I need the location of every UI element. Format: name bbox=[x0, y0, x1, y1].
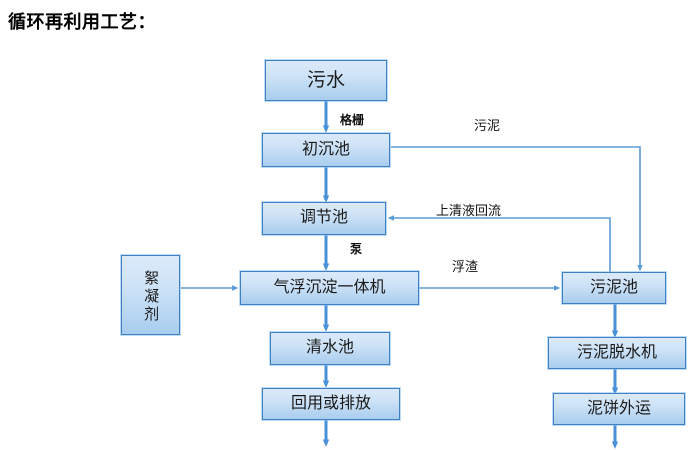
node-sludge-tank-label: 污泥池 bbox=[590, 279, 638, 297]
edge-label-grating-text: 格栅 bbox=[340, 113, 364, 127]
edge-label-scum-text: 浮渣 bbox=[452, 259, 478, 274]
node-primary-tank[interactable]: 初沉池 bbox=[262, 133, 390, 167]
edge-label-sludge-text: 污泥 bbox=[474, 118, 500, 133]
edge-label-sludge: 污泥 bbox=[474, 115, 500, 134]
node-clean-water-tank-label: 清水池 bbox=[306, 339, 354, 357]
node-sludge-tank[interactable]: 污泥池 bbox=[562, 272, 666, 304]
flowchart-canvas: 循环再利用工艺： bbox=[0, 0, 700, 450]
node-flotation-machine-label: 气浮沉淀一体机 bbox=[273, 279, 385, 297]
node-sludge-dewaterer[interactable]: 污泥脱水机 bbox=[548, 337, 686, 369]
edge-label-grating: 格栅 bbox=[340, 111, 364, 128]
node-mud-cake-transport-label: 泥饼外运 bbox=[587, 400, 651, 418]
node-flotation-machine[interactable]: 气浮沉淀一体机 bbox=[240, 271, 419, 305]
page-title: 循环再利用工艺： bbox=[8, 8, 156, 34]
node-reuse-discharge[interactable]: 回用或排放 bbox=[262, 388, 400, 420]
node-clean-water-tank[interactable]: 清水池 bbox=[270, 332, 390, 365]
node-wastewater-label: 污水 bbox=[307, 70, 345, 92]
node-reuse-discharge-label: 回用或排放 bbox=[291, 395, 371, 413]
node-flocculant-label: 絮凝剂 bbox=[142, 270, 159, 324]
edge-label-pump: 泵 bbox=[350, 240, 362, 257]
node-wastewater[interactable]: 污水 bbox=[265, 60, 387, 101]
connector-sludgetank-to-regulating bbox=[390, 218, 610, 272]
node-primary-tank-label: 初沉池 bbox=[302, 141, 350, 159]
node-regulating-tank[interactable]: 调节池 bbox=[262, 202, 386, 235]
connector-primary-to-sludgetank bbox=[391, 147, 640, 269]
edge-label-supernatant-return: 上清液回流 bbox=[436, 200, 501, 219]
edge-label-scum: 浮渣 bbox=[452, 256, 478, 275]
node-flocculant[interactable]: 絮凝剂 bbox=[121, 255, 180, 335]
edge-label-supernatant-return-text: 上清液回流 bbox=[436, 203, 501, 218]
node-regulating-tank-label: 调节池 bbox=[300, 209, 348, 227]
node-mud-cake-transport[interactable]: 泥饼外运 bbox=[553, 393, 685, 425]
node-sludge-dewaterer-label: 污泥脱水机 bbox=[577, 344, 657, 362]
edge-label-pump-text: 泵 bbox=[350, 242, 362, 256]
